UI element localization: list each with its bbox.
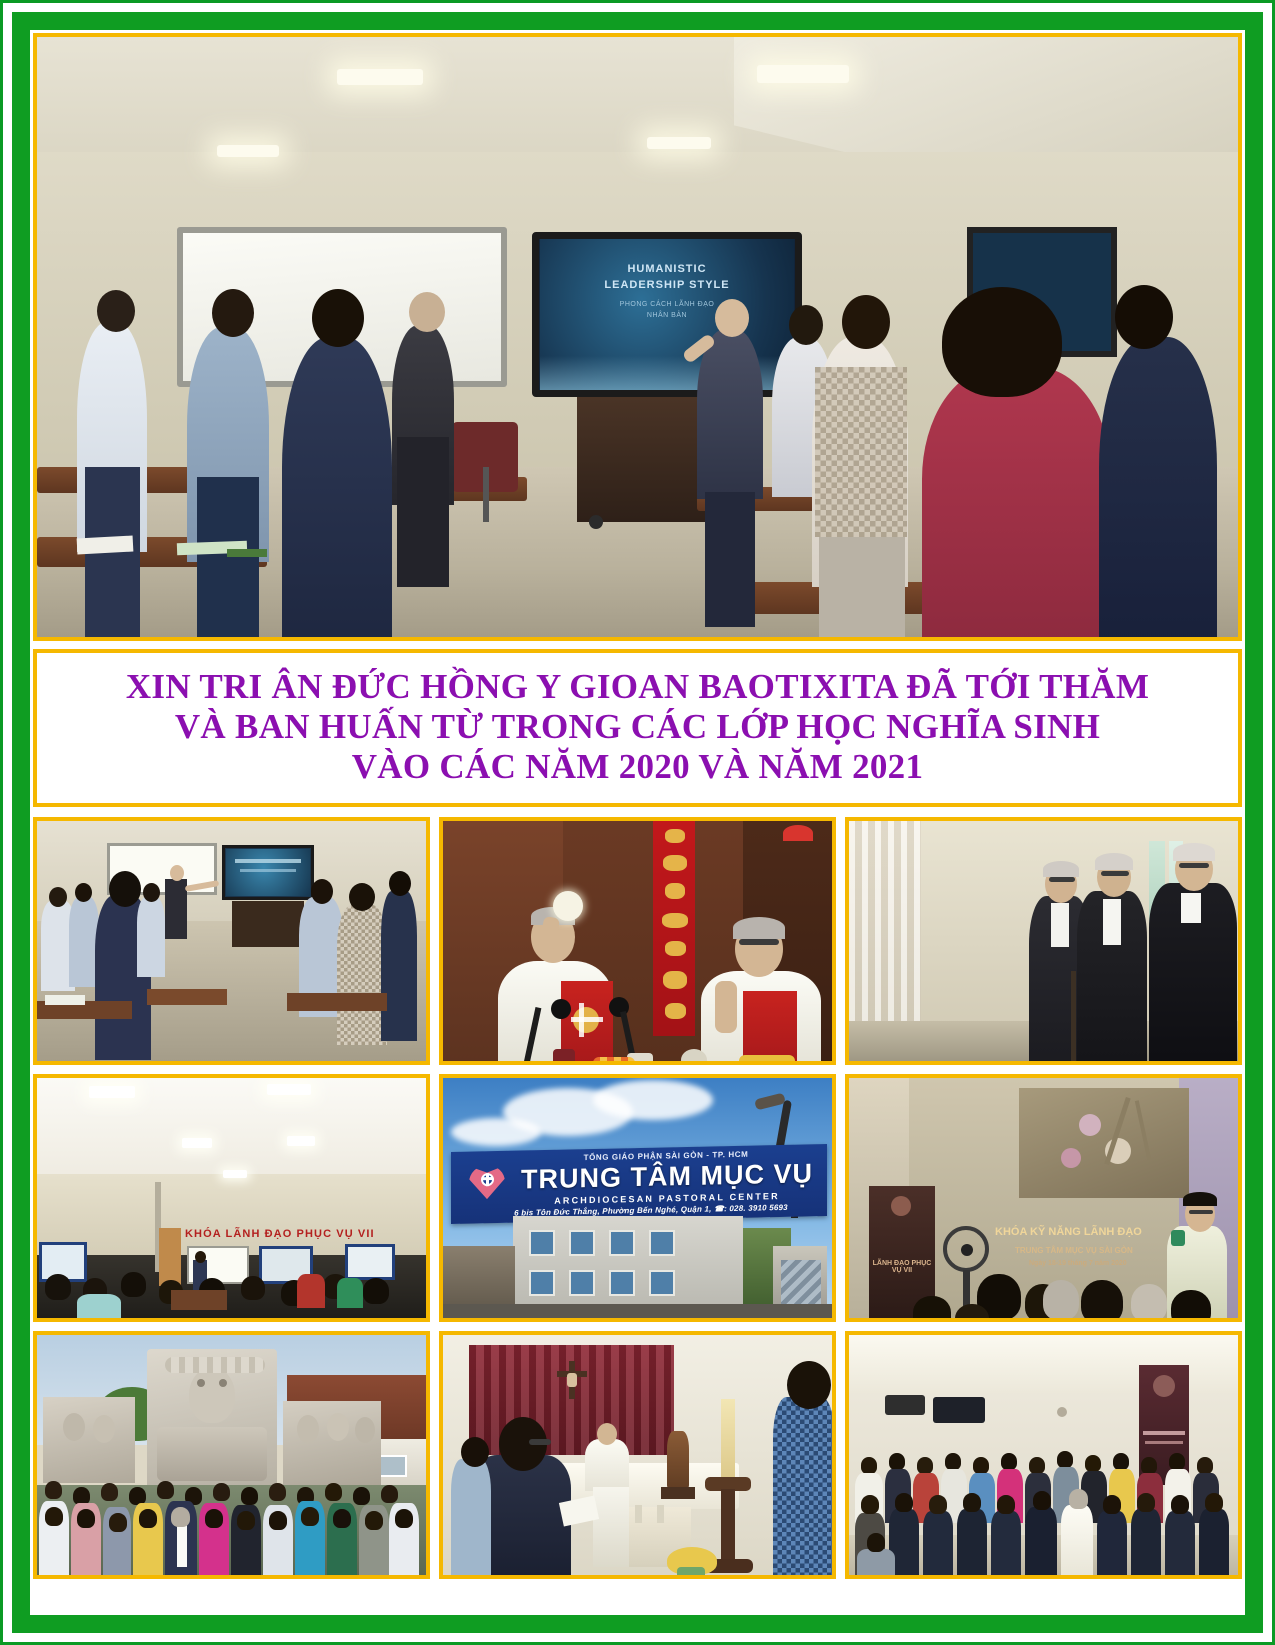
cloud <box>451 1118 541 1146</box>
altar-candle <box>657 1505 664 1523</box>
floral-decoration <box>593 1057 635 1065</box>
attendee <box>381 891 417 1041</box>
ceiling-light <box>647 137 711 149</box>
window <box>609 1230 635 1256</box>
group-head <box>1113 1453 1129 1470</box>
attendee-head <box>109 871 141 907</box>
celebrant-head <box>597 1423 617 1445</box>
relief-figure <box>355 1417 375 1443</box>
celebrant-alb <box>585 1439 629 1491</box>
standee-text: LÃNH ĐẠO PHỤC VỤ VII <box>871 1260 933 1274</box>
poster-content: HUMANISTIC LEADERSHIP STYLE PHONG CÁCH L… <box>33 33 1242 1612</box>
audience-head <box>1171 1290 1211 1322</box>
speaker-head <box>170 865 184 881</box>
group-head <box>157 1481 174 1499</box>
flower-pot <box>677 1567 705 1579</box>
grid-photo-group-indoor <box>845 1331 1242 1579</box>
eyeglasses <box>529 1439 551 1445</box>
group-head <box>973 1457 989 1474</box>
attendee-trousers <box>197 477 259 637</box>
clergy-hair <box>1043 861 1079 877</box>
scroll-calligraphy <box>665 941 686 956</box>
relief-figure <box>63 1413 85 1441</box>
walking-cane <box>1071 971 1076 1065</box>
chalice <box>553 1049 575 1065</box>
emblem-cross <box>571 1017 603 1022</box>
group-head <box>237 1511 255 1530</box>
group-head <box>325 1483 342 1501</box>
ceiling-light <box>89 1086 135 1098</box>
relief-drapery <box>157 1427 267 1481</box>
seated-head <box>1137 1493 1155 1512</box>
group-head <box>945 1453 961 1470</box>
attendee-head <box>349 883 375 911</box>
crouching-person <box>857 1549 895 1579</box>
group-head <box>1169 1453 1185 1470</box>
ceiling-light <box>267 1084 311 1095</box>
group-head <box>213 1483 230 1501</box>
hero-photo-scene: HUMANISTIC LEADERSHIP STYLE PHONG CÁCH L… <box>37 37 1238 637</box>
eyeglasses <box>739 939 779 945</box>
speaker <box>697 329 763 499</box>
slide-line3: PHONG CÁCH LÃNH ĐẠO <box>540 301 794 308</box>
standee-text-line <box>1145 1441 1183 1444</box>
attendee-head <box>389 871 411 896</box>
candle-stand-pole <box>721 1489 735 1561</box>
seated-person <box>1131 1509 1161 1575</box>
ceiling-light <box>287 1136 315 1146</box>
attendee-trousers <box>397 437 449 587</box>
audience-teal-shirt <box>77 1294 121 1322</box>
audience-head <box>121 1272 146 1297</box>
stone-relief-right <box>283 1401 381 1485</box>
grid-photo-mass-elevation <box>439 817 836 1065</box>
relief-eye <box>197 1379 205 1387</box>
sign-main-title: TRUNG TÂM MỤC VỤ <box>511 1158 823 1196</box>
wall-speaker <box>885 1395 925 1415</box>
group-head <box>333 1509 351 1528</box>
course-banner-text: KHÓA LÃNH ĐẠO PHỤC VỤ VII <box>185 1228 375 1240</box>
red-chasuble <box>743 991 797 1065</box>
grid-photo-clergy-greeting <box>845 817 1242 1065</box>
attendee <box>451 1459 491 1579</box>
window <box>569 1270 595 1296</box>
floral-decoration <box>739 1055 795 1065</box>
ceiling-light <box>337 69 423 85</box>
slide-title: HUMANISTIC <box>540 263 794 275</box>
seated-head <box>861 1495 879 1514</box>
attendee-head <box>212 289 254 337</box>
group-head <box>889 1453 905 1470</box>
standee-text-line <box>1143 1431 1185 1435</box>
window <box>649 1270 675 1296</box>
speaker-hair <box>1183 1192 1217 1206</box>
attendee-foreground <box>922 367 1112 637</box>
group-head <box>269 1483 286 1501</box>
group-head <box>1085 1455 1101 1472</box>
seated-person <box>1165 1511 1195 1575</box>
seated-head <box>1103 1495 1121 1514</box>
priest-hair <box>733 917 785 939</box>
title-block: XIN TRI ÂN ĐỨC HỒNG Y GIOAN BAOTIXITA ĐÃ… <box>33 649 1242 807</box>
seated-head <box>1033 1491 1051 1510</box>
group-head <box>109 1513 127 1532</box>
group-head <box>139 1509 157 1528</box>
eucharistic-host <box>553 891 583 921</box>
projected-flower <box>1061 1148 1081 1168</box>
group-head <box>1057 1451 1073 1468</box>
attendee-head <box>143 883 160 902</box>
attendee-head <box>787 1361 831 1409</box>
slide-line <box>235 859 301 863</box>
eyeglasses <box>1049 877 1075 882</box>
attendee-head <box>49 887 67 907</box>
eyeglasses <box>1101 871 1129 876</box>
altar-candle <box>635 1505 642 1523</box>
group-head <box>171 1507 190 1527</box>
group-head <box>101 1483 118 1501</box>
window <box>529 1230 555 1256</box>
slide-subtitle: LEADERSHIP STYLE <box>540 279 794 291</box>
group-head <box>77 1509 95 1528</box>
crouching-head <box>867 1533 885 1552</box>
window <box>649 1230 675 1256</box>
seated-priest-head <box>1069 1489 1088 1509</box>
attendee-head <box>75 883 92 902</box>
title-line-2: VÀ BAN HUẤN TỪ TRONG CÁC LỚP HỌC NGHĨA S… <box>47 707 1228 747</box>
standee-logo <box>891 1196 911 1216</box>
signboard: TỔNG GIÁO PHẬN SÀI GÒN - TP. HCM TRUNG T… <box>451 1144 827 1224</box>
projection-image <box>1019 1088 1189 1198</box>
hero-photo: HUMANISTIC LEADERSHIP STYLE PHONG CÁCH L… <box>33 33 1242 641</box>
window <box>529 1270 555 1296</box>
projection-screen <box>345 1244 395 1280</box>
audience-head <box>241 1276 265 1300</box>
scroll-calligraphy <box>665 829 685 843</box>
window <box>609 1270 635 1296</box>
group-head <box>301 1507 319 1526</box>
eyeglasses <box>1189 1210 1213 1214</box>
group-head <box>1029 1457 1045 1474</box>
pen <box>227 549 267 557</box>
seated-person <box>1025 1507 1057 1575</box>
seated-priest-white <box>1061 1505 1093 1575</box>
dress-shirt <box>1103 899 1121 945</box>
grid-photo-seminar-speaker: KHÓA KỸ NĂNG LÃNH ĐẠO TRUNG TÂM MỤC VỤ S… <box>845 1074 1242 1322</box>
attendee-head <box>311 879 333 904</box>
seated-person <box>957 1509 987 1575</box>
scroll-calligraphy <box>663 971 687 989</box>
celebrant-robe <box>593 1487 629 1567</box>
wall-monitor <box>933 1397 985 1423</box>
grid-photo-classroom-pointing <box>33 817 430 1065</box>
seated-head <box>895 1493 913 1512</box>
seated-person <box>1199 1509 1229 1575</box>
group-head <box>45 1481 62 1499</box>
attendee-head <box>312 289 364 347</box>
group-head <box>365 1511 383 1530</box>
caster-wheel <box>589 515 603 529</box>
fan-hub <box>961 1244 973 1256</box>
poster-frame: HUMANISTIC LEADERSHIP STYLE PHONG CÁCH L… <box>0 0 1275 1645</box>
seated-person <box>991 1511 1021 1575</box>
group-head <box>1001 1453 1017 1470</box>
eyeglasses <box>1179 863 1209 868</box>
attendee-patterned-dress <box>815 367 907 537</box>
cardinal-hair <box>1173 843 1215 861</box>
group-head <box>205 1509 223 1528</box>
crucifix-corpus <box>567 1373 577 1387</box>
ceiling-light <box>757 65 849 83</box>
audience-red-shirt <box>297 1274 325 1308</box>
seated-person <box>923 1511 953 1575</box>
projection-line-1: KHÓA KỸ NĂNG LÃNH ĐẠO <box>995 1226 1142 1238</box>
speaker-head <box>715 299 749 337</box>
grid-photo-group-relief <box>33 1331 430 1579</box>
clergy-hair <box>1095 853 1133 870</box>
audience-head <box>1081 1280 1123 1322</box>
seated-head <box>1205 1493 1223 1512</box>
scroll-calligraphy <box>663 855 687 871</box>
statue-base <box>661 1487 695 1499</box>
attendee-head <box>97 290 135 332</box>
audience-head-grey <box>1043 1280 1079 1320</box>
group-head <box>129 1487 146 1505</box>
relief-figure <box>93 1415 115 1443</box>
logo-cross <box>482 1177 493 1180</box>
seated-head <box>997 1495 1015 1514</box>
group-head <box>45 1507 63 1526</box>
speaker-trousers <box>705 492 755 627</box>
group-head <box>917 1457 933 1474</box>
group-head <box>353 1487 370 1505</box>
grid-photo-pastoral-center-sign: TỔNG GIÁO PHẬN SÀI GÒN - TP. HCM TRUNG T… <box>439 1074 836 1322</box>
group-head <box>861 1457 877 1474</box>
paschal-candle <box>721 1399 735 1479</box>
ceiling-light <box>223 1170 247 1178</box>
attendee <box>1099 337 1217 637</box>
scroll-calligraphy <box>662 913 688 928</box>
standee-logo <box>1153 1375 1175 1397</box>
group-head <box>1141 1457 1157 1474</box>
ceiling-light <box>217 145 279 157</box>
seated-head <box>1171 1495 1189 1514</box>
instructor-head <box>195 1251 206 1263</box>
seated-head <box>963 1493 981 1512</box>
paper <box>77 536 134 555</box>
attendee <box>282 337 392 637</box>
attendee <box>137 897 165 977</box>
chair-leg <box>483 467 489 522</box>
group-head <box>73 1487 90 1505</box>
attendee-checked-shirt <box>773 1397 835 1579</box>
group-head <box>269 1511 287 1530</box>
attendee-head <box>409 292 445 332</box>
scroll-calligraphy <box>665 1003 686 1019</box>
desk <box>147 989 227 1005</box>
attendee-foreground-head <box>942 287 1062 397</box>
stone-relief-left <box>43 1397 135 1483</box>
dress-shirt <box>1051 903 1069 947</box>
speaker-body <box>165 879 187 939</box>
projection-line-2: TRUNG TÂM MỤC VỤ SÀI GÒN <box>1015 1246 1133 1255</box>
desk <box>171 1290 227 1310</box>
group-head <box>381 1485 398 1503</box>
attendee-head <box>1115 285 1173 349</box>
attendee-head <box>789 305 823 345</box>
title-line-3: VÀO CÁC NĂM 2020 VÀ NĂM 2021 <box>47 747 1228 787</box>
photo-grid: KHÓA LÃNH ĐẠO PHỤC VỤ VII <box>33 817 1242 1579</box>
cloud <box>593 1080 713 1120</box>
window <box>569 1230 595 1256</box>
relief-halo-stars <box>165 1357 265 1373</box>
roman-collar <box>1181 893 1201 923</box>
audience-head <box>363 1278 389 1304</box>
audience-head-grey <box>1131 1284 1167 1322</box>
title-line-1: XIN TRI ÂN ĐỨC HỒNG Y GIOAN BAOTIXITA ĐÃ… <box>47 667 1228 707</box>
grid-photo-classroom-leadership: KHÓA LÃNH ĐẠO PHỤC VỤ VII <box>33 1074 430 1322</box>
tv-stand <box>232 901 304 947</box>
slide-line <box>240 869 296 872</box>
attendee-head <box>461 1437 489 1467</box>
tv-screen <box>226 849 310 896</box>
desk <box>287 993 387 1011</box>
audience-head <box>45 1274 71 1300</box>
praying-hands <box>715 981 737 1033</box>
attendee-skirt <box>819 537 905 637</box>
wooden-statue <box>667 1431 689 1491</box>
projection-line-3: Ngày 18-19 tháng 7 năm 2020 <box>1029 1260 1127 1267</box>
attendee <box>337 905 387 1045</box>
group-head <box>241 1487 258 1505</box>
slide-line4: NHÂN BẢN <box>540 312 794 319</box>
projected-flower <box>1079 1114 1101 1136</box>
relief-figure <box>327 1413 349 1441</box>
decoration <box>783 825 813 841</box>
seated-head <box>929 1495 947 1514</box>
grid-photo-chapel-mass <box>439 1331 836 1579</box>
relief-eye <box>219 1379 227 1387</box>
audience-green-shirt <box>337 1278 363 1308</box>
seated-person <box>1097 1511 1127 1575</box>
relief-virgin-face <box>189 1367 235 1423</box>
scroll-calligraphy <box>665 883 685 899</box>
relief-figure <box>297 1415 319 1443</box>
attendee-head <box>842 295 890 349</box>
microphone-head <box>551 999 571 1019</box>
wall-clock <box>1057 1407 1067 1417</box>
ceiling-light <box>182 1138 212 1148</box>
street <box>443 1304 832 1318</box>
paper <box>45 995 85 1005</box>
audience-head <box>913 1296 951 1322</box>
door <box>159 1228 181 1286</box>
group-head <box>1197 1457 1213 1474</box>
microphone <box>1171 1230 1185 1246</box>
group-head <box>395 1509 413 1528</box>
